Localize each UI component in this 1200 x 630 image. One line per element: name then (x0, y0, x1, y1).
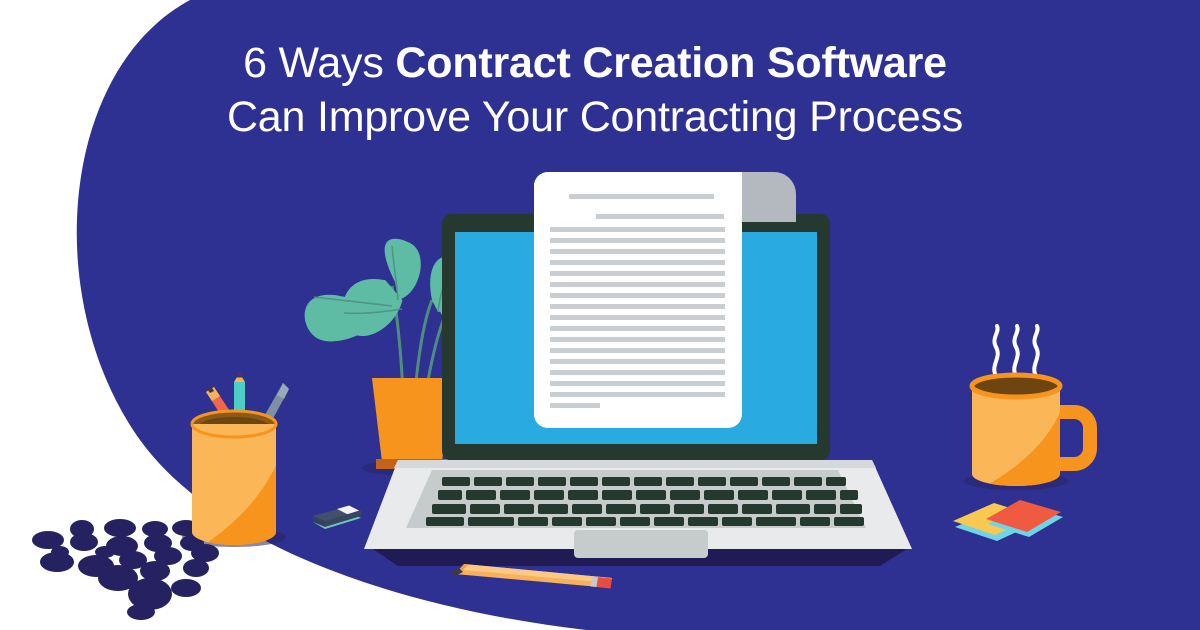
illustration-canvas: 6 Ways Contract Creation Software Can Im… (0, 0, 1200, 630)
page-fold-corner (740, 172, 796, 222)
desk-scene-illustration (0, 0, 1200, 630)
trackpad (574, 530, 708, 558)
